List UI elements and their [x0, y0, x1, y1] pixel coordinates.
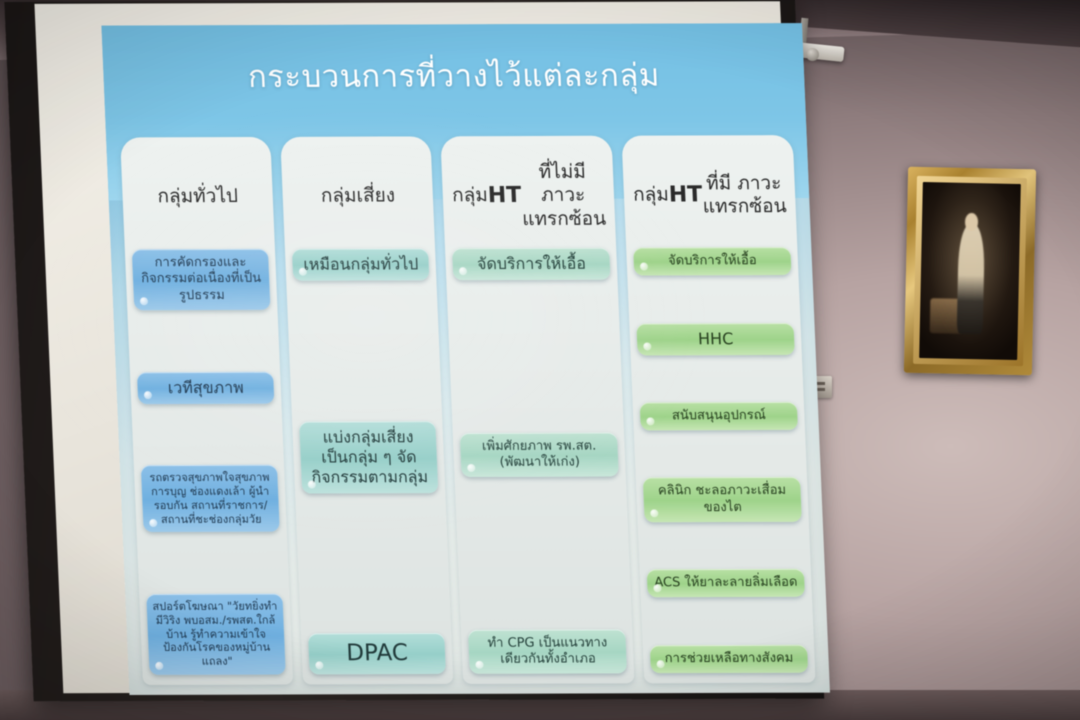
slide-cell: DPAC — [308, 633, 446, 674]
slide-columns: กลุ่มทั่วไปการคัดกรองและกิจกรรมต่อเนื่อง… — [120, 135, 815, 685]
column-cells-2: เหมือนกลุ่มทั่วไปแบ่งกลุ่มเสี่ยงเป็นกลุ่… — [292, 248, 446, 674]
slide-cell: การช่วยเหลือทางสังคม — [650, 644, 808, 673]
column-cells-3: จัดบริการให้เอื้อเพิ่มศักยภาพ รพ.สต. (พั… — [452, 248, 627, 674]
column-cells-4: จัดบริการให้เอื้อHHCสนับสนุนอุปกรณ์คลินิ… — [633, 247, 808, 673]
screen-surface: กระบวนการที่วางไว้แต่ละกลุ่ม กลุ่มทั่วไป… — [34, 1, 808, 693]
slide-column-1: กลุ่มทั่วไปการคัดกรองและกิจกรรมต่อเนื่อง… — [120, 137, 293, 685]
column-header-1: กลุ่มทั่วไป — [127, 145, 268, 249]
slide-cell: ทำ CPG เป็นแนวทางเดียวกันทั้งอำเภอ — [468, 629, 627, 674]
slide-cell: เวทีสุขภาพ — [137, 371, 275, 403]
slide-cell: ACS ให้ยาละลายลิ่มเลือด — [647, 569, 805, 598]
slide-cell: สปอร์ตโฆษณา "วัยทยิ่งทำมีวิริง พบอสม./รพ… — [146, 594, 286, 675]
slide-cell: จัดบริการให้เอื้อ — [452, 248, 610, 281]
slide-cell: แบ่งกลุ่มเสี่ยงเป็นกลุ่ม ๆ จัดกิจกรรมตาม… — [299, 421, 438, 493]
column-header-2: กลุ่มเสี่ยง — [288, 144, 429, 248]
column-header-part: ที่ไม่มี ภาวะแทรกซ้อน — [520, 161, 607, 231]
column-header-4: กลุ่ม HT ที่มี ภาวะแทรกซ้อน — [629, 143, 790, 247]
slide-column-2: กลุ่มเสี่ยงเหมือนกลุ่มทั่วไปแบ่งกลุ่มเสี… — [280, 136, 453, 684]
slide-column-3: กลุ่ม HT ที่ไม่มี ภาวะแทรกซ้อนจัดบริการใ… — [441, 136, 635, 684]
column-header-part: HT — [487, 183, 522, 210]
slide-cell: การคัดกรองและกิจกรรมต่อเนื่องที่เป็นรูปธ… — [132, 249, 271, 310]
slide-cell: HHC — [636, 323, 794, 356]
slide-column-4: กลุ่ม HT ที่มี ภาวะแทรกซ้อนจัดบริการให้เ… — [622, 135, 816, 683]
meeting-room-photo: กระบวนการที่วางไว้แต่ละกลุ่ม กลุ่มทั่วไป… — [0, 0, 1080, 720]
slide-title: กระบวนการที่วางไว้แต่ละกลุ่ม — [103, 49, 806, 101]
slide-cell: เพิ่มศักยภาพ รพ.สต. (พัฒนาให้เก่ง) — [460, 432, 619, 477]
portrait-glow — [919, 182, 1021, 360]
column-cells-1: การคัดกรองและกิจกรรมต่อเนื่องที่เป็นรูปธ… — [132, 249, 286, 675]
slide-cell: เหมือนกลุ่มทั่วไป — [292, 248, 430, 280]
slide-cell: สนับสนุนอุปกรณ์ — [640, 402, 798, 431]
column-header-part: กลุ่ม — [633, 184, 670, 207]
column-header-part: HT — [668, 182, 703, 209]
column-header-part: ที่มี ภาวะแทรกซ้อน — [701, 172, 787, 219]
presentation-slide: กระบวนการที่วางไว้แต่ละกลุ่ม กลุ่มทั่วไป… — [101, 23, 830, 695]
slide-cell: คลินิก ชะลอภาวะเสื่อมของไต — [643, 477, 802, 522]
portrait-canvas — [919, 182, 1021, 360]
column-header-3: กลุ่ม HT ที่ไม่มี ภาวะแทรกซ้อน — [448, 144, 609, 248]
column-header-part: กลุ่ม — [452, 185, 489, 208]
framed-royal-portrait — [904, 167, 1036, 376]
slide-cell: จัดบริการให้เอื้อ — [633, 247, 791, 276]
slide-cell: รถตรวจสุขภาพใจสุขภาพ การบุญ ช่องแดงเล้า … — [141, 465, 280, 532]
projection-screen: กระบวนการที่วางไว้แต่ละกลุ่ม กลุ่มทั่วไป… — [0, 0, 845, 720]
